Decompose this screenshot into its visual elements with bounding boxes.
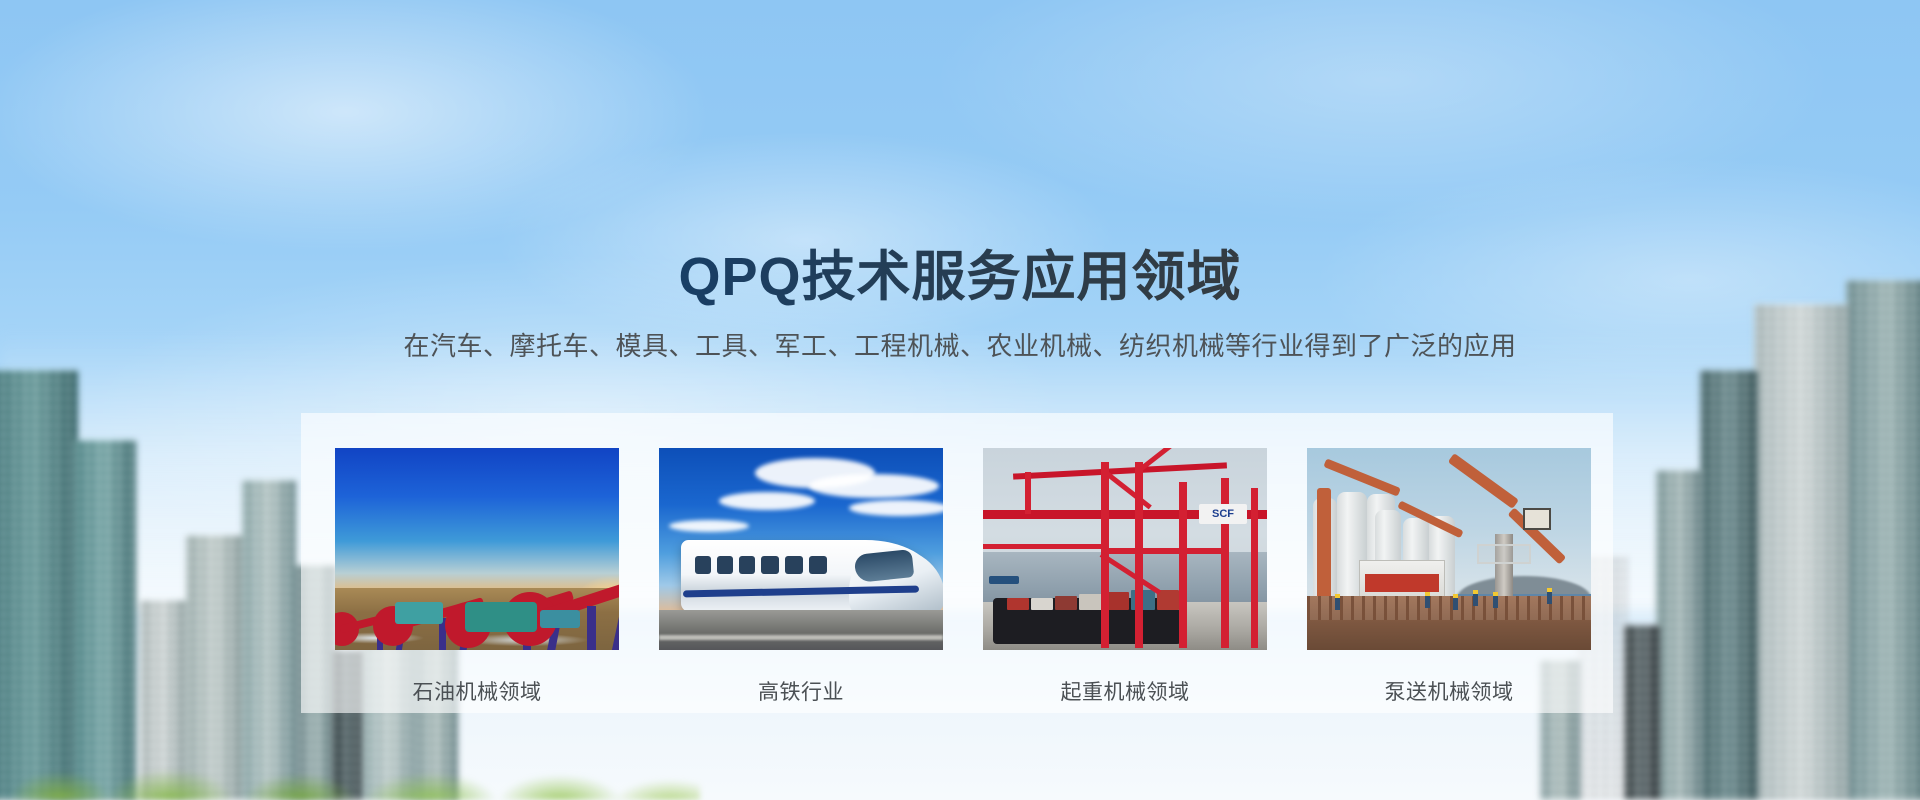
page-subtitle: 在汽车、摩托车、模具、工具、军工、工程机械、农业机械、纺织机械等行业得到了广泛的… (0, 326, 1920, 363)
card-lifting-machinery[interactable]: SCF 起重机械领域 (983, 448, 1267, 706)
crane-brand-plate: SCF (1199, 504, 1247, 524)
card-label: 石油机械领域 (335, 676, 619, 706)
port-container-crane-photo: SCF (983, 448, 1267, 650)
card-label: 起重机械领域 (983, 676, 1267, 706)
card-oil-machinery[interactable]: 石油机械领域 (335, 448, 619, 706)
crane-brand-label: SCF (1199, 504, 1247, 524)
card-high-speed-rail[interactable]: 高铁行业 (659, 448, 943, 706)
high-speed-train-photo (659, 448, 943, 650)
application-cards-panel: 石油机械领域 (301, 413, 1613, 713)
hero-content: QPQ技术服务应用领域 在汽车、摩托车、模具、工具、军工、工程机械、农业机械、纺… (0, 0, 1920, 800)
card-pumping-machinery[interactable]: 泵送机械领域 (1307, 448, 1591, 706)
card-label: 高铁行业 (659, 676, 943, 706)
card-label: 泵送机械领域 (1307, 676, 1591, 706)
oil-pumpjack-photo (335, 448, 619, 650)
page-title: QPQ技术服务应用领域 (0, 232, 1920, 311)
concrete-pumping-site-photo (1307, 448, 1591, 650)
